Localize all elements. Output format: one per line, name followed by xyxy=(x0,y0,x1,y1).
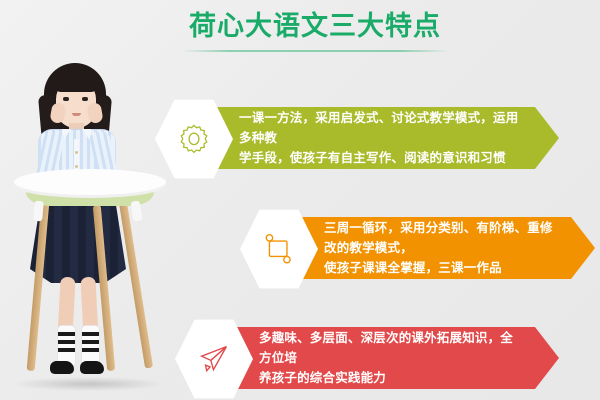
shoe-left xyxy=(50,361,74,374)
feature-banner-body-1: 一课一方法，采用启发式、讨论式教学模式，运用多种教 学手段，使孩子有自主写作、阅… xyxy=(215,107,535,169)
crop-frame-icon xyxy=(262,232,296,266)
eye-right xyxy=(82,97,88,101)
feature-text-line: 使孩子课课全掌握，三课一作品 xyxy=(324,258,557,278)
feature-text-3: 多趣味、多层面、深层次的课外拓展知识，全方位培 养孩子的综合实践能力 xyxy=(259,328,521,388)
paper-plane-icon xyxy=(196,341,232,377)
feature-banner-3: 多趣味、多层面、深层次的课外拓展知识，全方位培 养孩子的综合实践能力 xyxy=(235,327,559,389)
table-leg-cap xyxy=(33,201,44,222)
page-title: 荷心大语文三大特点 xyxy=(150,10,480,44)
sock-stripe xyxy=(82,340,99,344)
sock-stripe xyxy=(82,332,99,336)
sock-stripe xyxy=(58,332,75,336)
banner-arrow-1 xyxy=(535,107,559,169)
floor-shadow xyxy=(14,377,164,391)
feature-text-1: 一课一方法，采用启发式、讨论式教学模式，运用多种教 学手段，使孩子有自主写作、阅… xyxy=(239,108,521,168)
gear-icon xyxy=(177,122,211,156)
promo-banner-stage: 荷心大语文三大特点 xyxy=(0,0,600,400)
table-leg xyxy=(119,201,153,368)
feature-text-line: 三周一循环，采用分类别、有阶梯、重修改的教学模式， xyxy=(324,218,557,258)
banner-arrow-2 xyxy=(571,217,595,279)
banner-arrow-3 xyxy=(535,327,559,389)
feature-text-2: 三周一循环，采用分类别、有阶梯、重修改的教学模式， 使孩子课课全掌握，三课一作品 xyxy=(324,218,557,278)
feature-text-line: 养孩子的综合实践能力 xyxy=(259,368,521,388)
bangs xyxy=(53,68,99,92)
shirt-button xyxy=(75,165,78,168)
feature-banner-body-3: 多趣味、多层面、深层次的课外拓展知识，全方位培 养孩子的综合实践能力 xyxy=(235,327,535,389)
feature-text-line: 多趣味、多层面、深层次的课外拓展知识，全方位培 xyxy=(259,328,521,368)
shirt-button xyxy=(75,151,78,154)
feature-banner-body-2: 三周一循环，采用分类别、有阶梯、重修改的教学模式， 使孩子课课全掌握，三课一作品 xyxy=(300,217,571,279)
sock-stripe xyxy=(58,340,75,344)
feature-text-line: 学手段，使孩子有自主写作、阅读的意识和习惯 xyxy=(239,148,521,168)
girl-photo xyxy=(0,55,180,400)
table-top xyxy=(14,169,166,195)
feature-banner-2: 三周一循环，采用分类别、有阶梯、重修改的教学模式， 使孩子课课全掌握，三课一作品 xyxy=(300,217,595,279)
sock-stripe xyxy=(58,348,75,352)
title-divider xyxy=(181,50,449,52)
page-title-block: 荷心大语文三大特点 xyxy=(150,10,480,52)
shoe-right xyxy=(80,361,104,374)
feature-banner-1: 一课一方法，采用启发式、讨论式教学模式，运用多种教 学手段，使孩子有自主写作、阅… xyxy=(215,107,559,169)
sock-stripe xyxy=(82,348,99,352)
eye-left xyxy=(63,97,69,101)
feature-text-line: 一课一方法，采用启发式、讨论式教学模式，运用多种教 xyxy=(239,108,521,148)
